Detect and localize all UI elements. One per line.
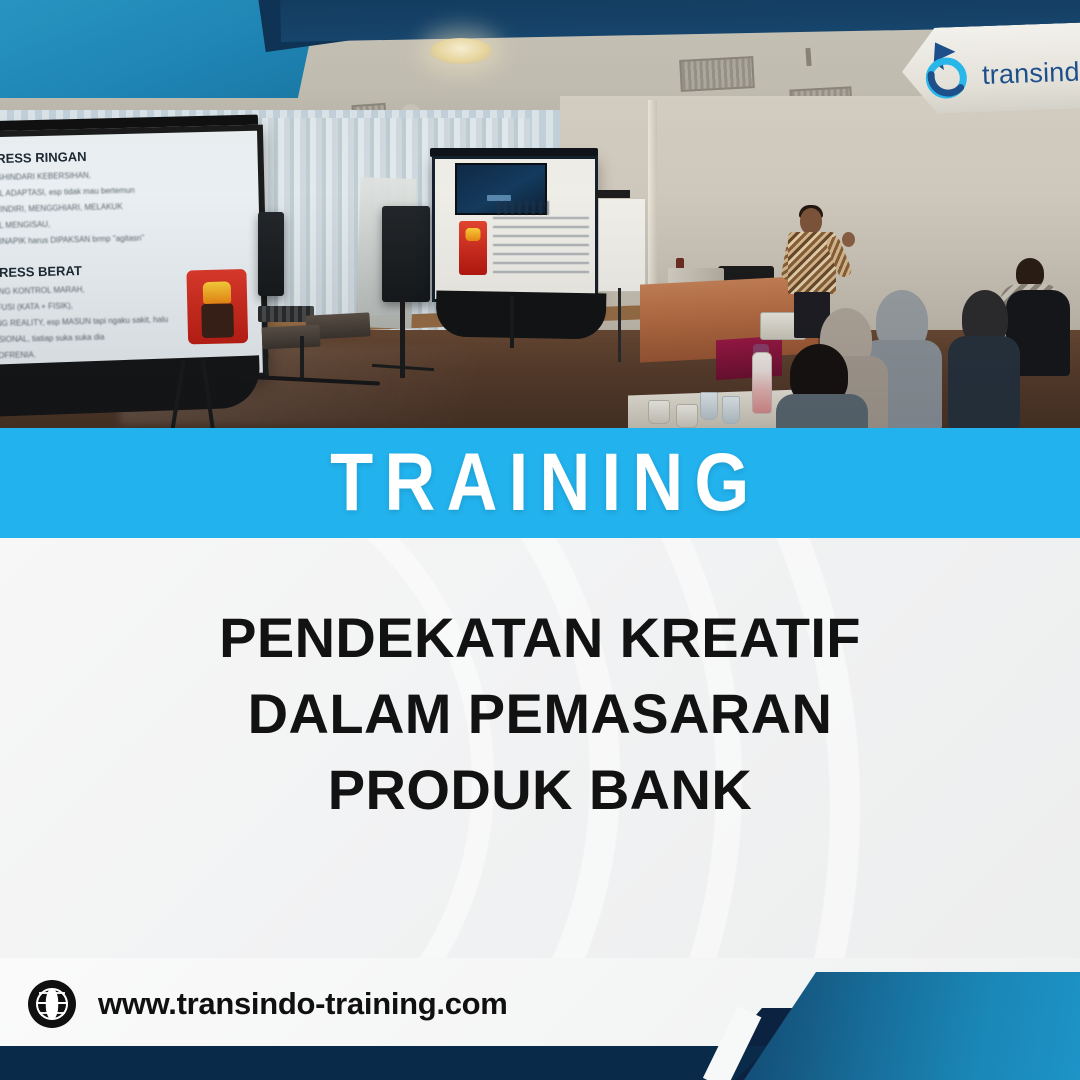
slide-logo: [497, 201, 553, 215]
av-case: [261, 324, 320, 349]
event-photo: STRESS RINGAN MENGHINDARI KEBERSIHAN, GA…: [0, 0, 1080, 430]
magenta-draped-table: [716, 336, 782, 381]
coffee-cup: [648, 400, 670, 424]
right-screen-leg: [510, 296, 514, 348]
av-table-leg: [300, 336, 304, 378]
loudspeaker: [258, 212, 284, 296]
page-title: PENDEKATAN KREATIF DALAM PEMASARAN PRODU…: [0, 600, 1080, 828]
training-poster: STRESS RINGAN MENGHINDARI KEBERSIHAN, GA…: [0, 0, 1080, 1080]
drinking-glass: [700, 392, 718, 420]
globe-latitude-line: [39, 992, 65, 994]
coffee-cup: [676, 404, 698, 428]
ceiling-light: [430, 38, 492, 64]
water-bottle: [752, 352, 772, 414]
globe-latitude-line: [39, 1012, 65, 1014]
headline-line-3: PRODUK BANK: [0, 752, 1080, 828]
left-projection-screen: STRESS RINGAN MENGHINDARI KEBERSIHAN, GA…: [0, 125, 269, 386]
right-projection-screen: [432, 156, 598, 302]
slide-bullet: GAGAL ADAPTASI, esp tidak mau bertemun: [0, 186, 135, 199]
training-band: TRAINING: [0, 428, 1080, 538]
slide-bullet: LOSING REALITY, esp MASUN tapi ngaku sak…: [0, 315, 168, 329]
transindo-wordmark: transindo: [981, 56, 1080, 91]
slide-heading-2: STRESS BERAT: [0, 263, 82, 280]
slide-bullet: HILANG KONTROL MARAH,: [0, 285, 85, 297]
right-screen-drape: [436, 291, 607, 340]
globe-icon: [28, 980, 76, 1028]
flipchart: [598, 198, 646, 292]
audience-body: [776, 394, 868, 430]
drinking-glass: [722, 396, 740, 424]
slide-bullet: MENYINDIRI, MENGGHIARI, MELAKUK: [0, 202, 123, 215]
slide-bullet: EMOSIONAL, tiatiap suka suka dia: [0, 333, 105, 345]
audience-body: [948, 336, 1020, 428]
headline-line-1: PENDEKATAN KREATIF: [0, 600, 1080, 676]
headline-line-2: DALAM PEMASARAN: [0, 676, 1080, 752]
ac-vent: [679, 56, 755, 92]
slide-bullet: SKIZOFRENIA.: [0, 350, 36, 360]
left-screen-drape: [0, 355, 261, 416]
slide-bullet: MENGHINDARI KEBERSIHAN,: [0, 171, 91, 183]
website-url[interactable]: www.transindo-training.com: [98, 986, 508, 1022]
presenter-head: [800, 208, 822, 234]
presenter-hand: [842, 232, 855, 247]
slide-bullet: MENGINAPIK harus DIPAKSAN brmp "agitasn": [0, 234, 144, 247]
loudspeaker: [382, 206, 430, 302]
slide-heading-1: STRESS RINGAN: [0, 149, 87, 167]
slide-angry-character: [186, 269, 248, 344]
slide-bullet: KASUL MENGISAU,: [0, 220, 50, 231]
flipchart-leg: [618, 288, 621, 362]
transindo-swoosh-logo: [915, 37, 981, 101]
globe-equator-line: [36, 1002, 68, 1004]
band-title: TRAINING: [319, 442, 760, 524]
slide-bullet: KONFUSI (KATA + FISIK),: [0, 301, 73, 312]
slide-text-block: [493, 217, 589, 275]
slide-angry-character: [459, 221, 487, 275]
